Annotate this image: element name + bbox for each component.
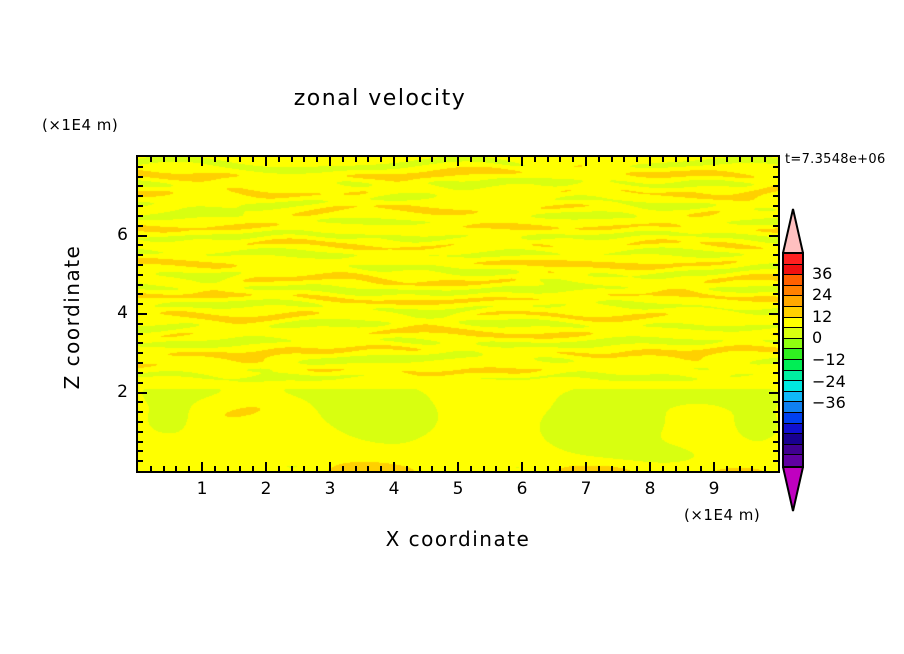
colorbar-segment	[784, 254, 802, 265]
colorbar-segment	[784, 455, 802, 466]
y-tick-label: 4	[88, 303, 128, 323]
colorbar-gradient	[782, 252, 804, 468]
colorbar-tick-label: −24	[812, 372, 846, 391]
time-annotation: t=7.3548e+06	[785, 152, 886, 167]
colorbar-over-arrow-icon	[782, 208, 804, 254]
colorbar-segment	[784, 360, 802, 371]
colorbar-tick-label: 12	[812, 307, 832, 326]
colorbar-segment	[784, 286, 802, 297]
colorbar-tick-label: 36	[812, 264, 832, 283]
colorbar-segment	[784, 371, 802, 382]
colorbar-tick-label: −12	[812, 350, 846, 369]
y-tick-label: 6	[88, 225, 128, 245]
colorbar-segment	[784, 381, 802, 392]
colorbar-segment	[784, 318, 802, 329]
colorbar-segment	[784, 424, 802, 435]
colorbar-segment	[784, 328, 802, 339]
x-tick-label: 8	[630, 479, 670, 499]
x-tick-label: 3	[310, 479, 350, 499]
colorbar-segment	[784, 445, 802, 456]
x-tick-label: 1	[182, 479, 222, 499]
x-tick-label: 5	[438, 479, 478, 499]
colorbar-tick-label: 0	[812, 328, 822, 347]
colorbar-segment	[784, 392, 802, 403]
colorbar-tick-label: 24	[812, 285, 832, 304]
x-tick-label: 6	[502, 479, 542, 499]
x-tick-label: 2	[246, 479, 286, 499]
colorbar: 3624120−12−24−36	[780, 208, 806, 510]
x-axis-unit-label: (×1E4 m)	[684, 506, 760, 524]
x-axis-title: X coordinate	[136, 527, 780, 551]
y-tick-label: 2	[88, 382, 128, 402]
colorbar-segment	[784, 402, 802, 413]
x-tick-label: 7	[566, 479, 606, 499]
colorbar-segment	[784, 307, 802, 318]
colorbar-tick-label: −36	[812, 393, 846, 412]
colorbar-segment	[784, 275, 802, 286]
x-tick-label: 4	[374, 479, 414, 499]
contour-field-canvas	[138, 157, 778, 471]
page-title: zonal velocity	[0, 86, 760, 111]
colorbar-under-arrow-icon	[782, 466, 804, 512]
colorbar-segment	[784, 296, 802, 307]
colorbar-segment	[784, 339, 802, 350]
colorbar-segment	[784, 413, 802, 424]
x-tick-label: 9	[694, 479, 734, 499]
colorbar-segment	[784, 434, 802, 445]
colorbar-segment	[784, 265, 802, 276]
contour-plot-area	[136, 155, 780, 473]
y-axis-unit-label: (×1E4 m)	[42, 116, 118, 134]
y-axis-title: Z coordinate	[60, 217, 84, 417]
colorbar-segment	[784, 349, 802, 360]
